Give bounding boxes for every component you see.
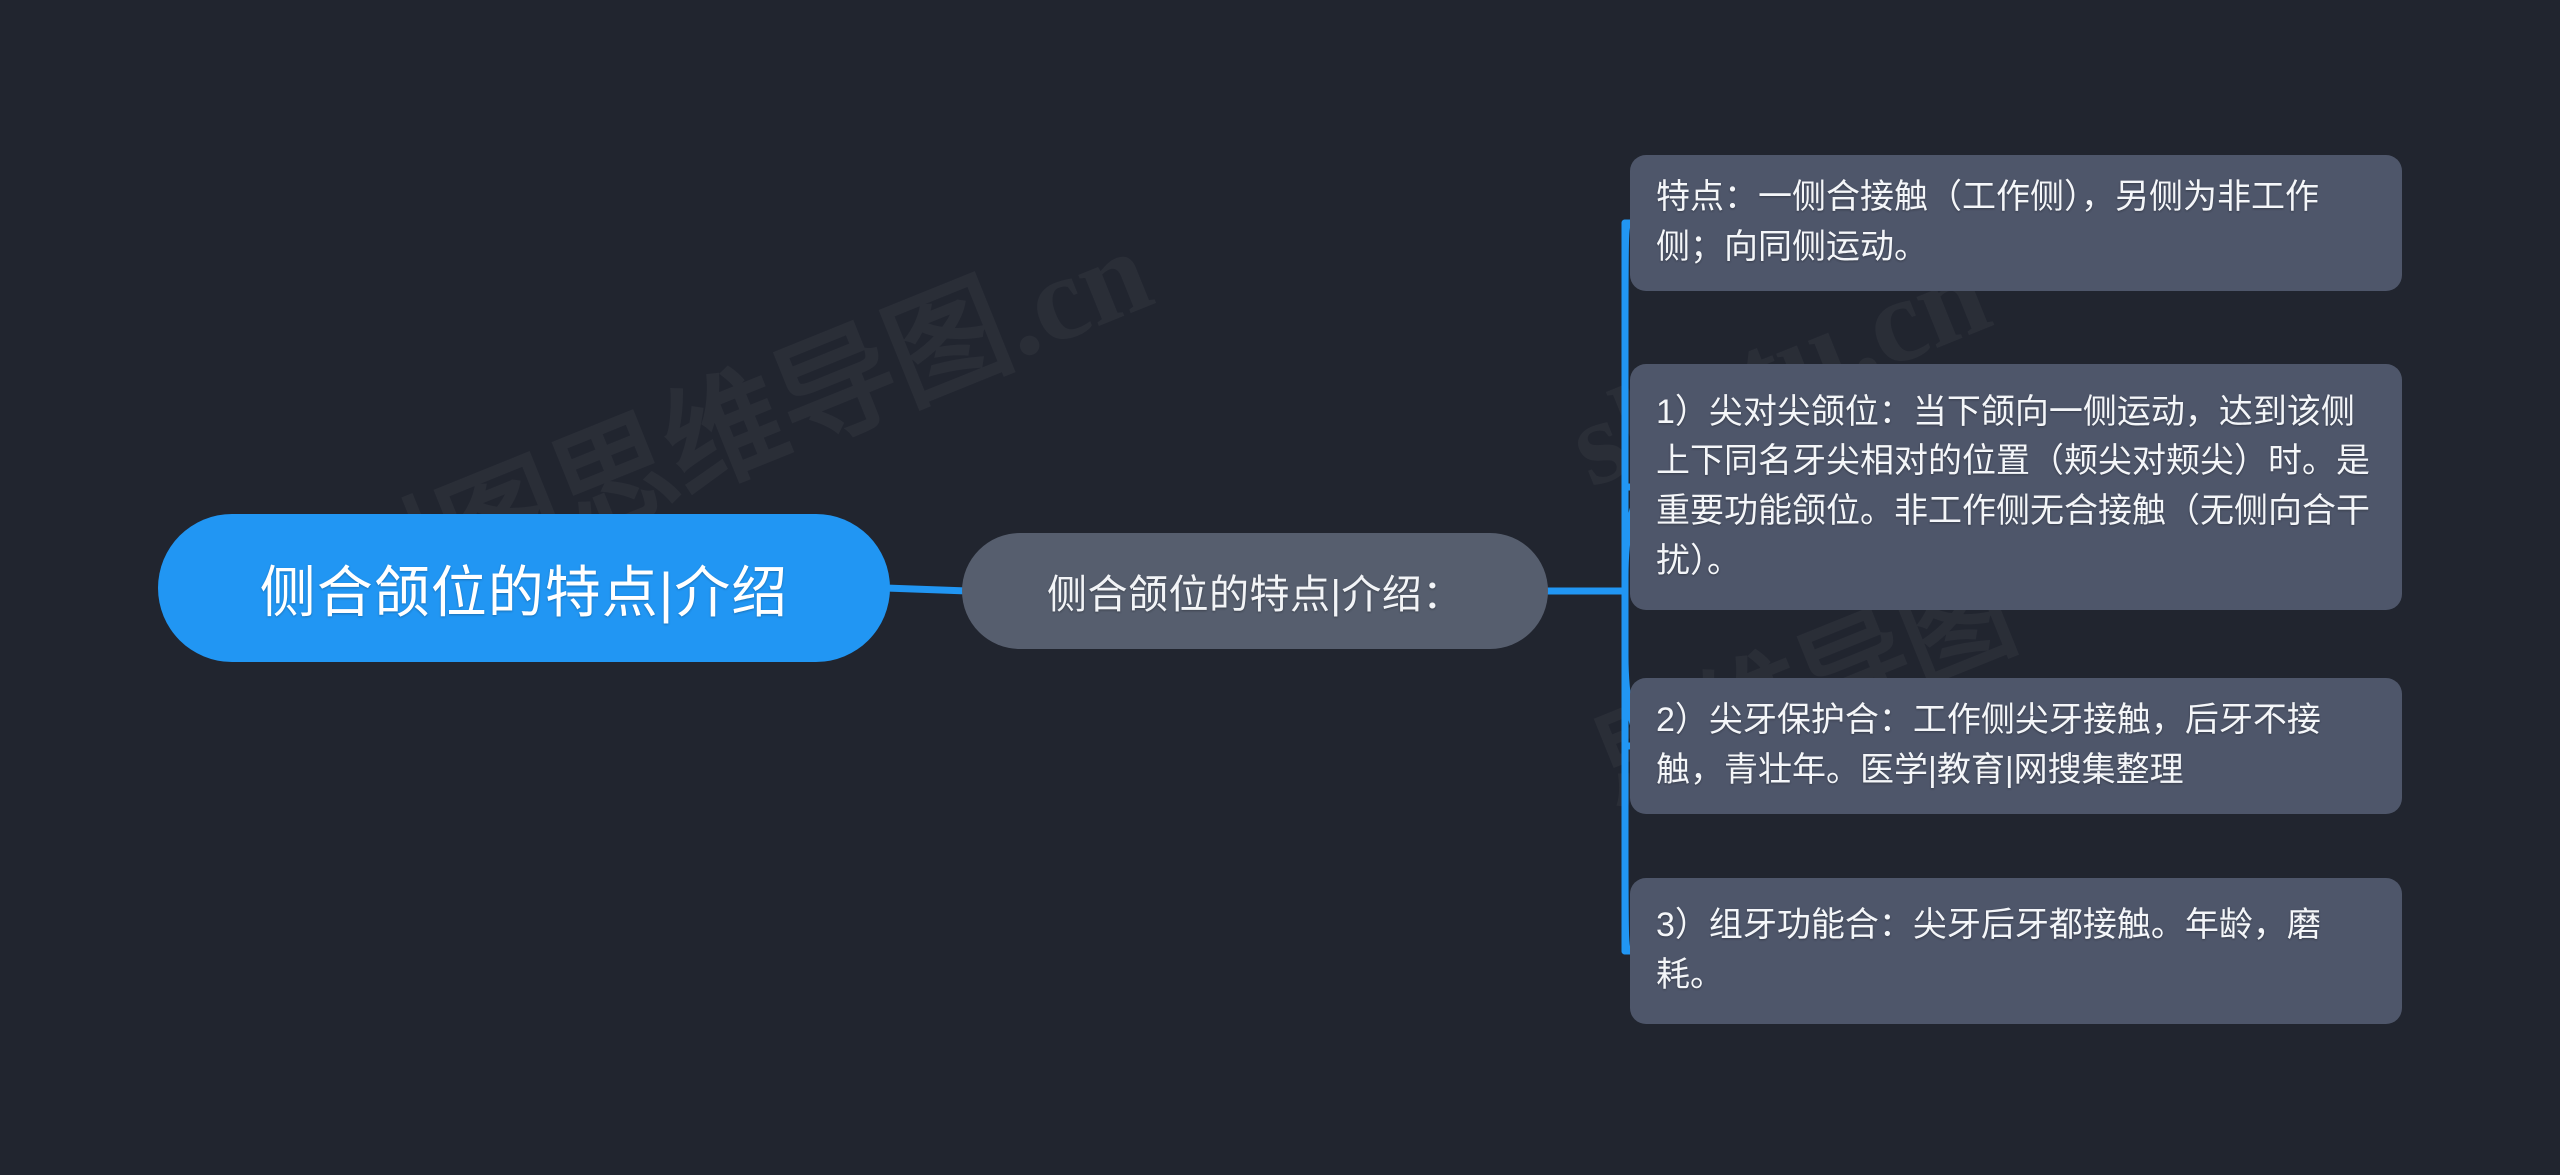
root-node-label: 侧合颌位的特点|介绍 bbox=[260, 548, 789, 629]
branch-node-label: 侧合颌位的特点|介绍： bbox=[1047, 562, 1463, 620]
branch-node[interactable]: 侧合颌位的特点|介绍： bbox=[962, 533, 1548, 649]
mindmap-canvas: 树图思维导图.cn shutu.cn 思维导图 侧合颌位的特点|介绍 侧合颌位的… bbox=[0, 0, 2560, 1175]
leaf-card[interactable]: 2）尖牙保护合：工作侧尖牙接触，后牙不接触，青壮年。医学|教育|网搜集整理 bbox=[1630, 678, 2402, 814]
leaf-card-text: 2）尖牙保护合：工作侧尖牙接触，后牙不接触，青壮年。医学|教育|网搜集整理 bbox=[1656, 696, 2376, 795]
link-root-to-branch bbox=[886, 588, 968, 591]
leaf-card[interactable]: 特点：一侧合接触（工作侧），另侧为非工作侧；向同侧运动。 bbox=[1630, 155, 2402, 291]
leaf-card-text: 1）尖对尖颌位：当下颌向一侧运动，达到该侧上下同名牙尖相对的位置（颊尖对颊尖）时… bbox=[1656, 388, 2376, 587]
root-node[interactable]: 侧合颌位的特点|介绍 bbox=[158, 514, 890, 662]
leaf-card[interactable]: 3）组牙功能合：尖牙后牙都接触。年龄，磨耗。 bbox=[1630, 878, 2402, 1024]
leaf-card-text: 特点：一侧合接触（工作侧），另侧为非工作侧；向同侧运动。 bbox=[1656, 173, 2376, 272]
leaf-card[interactable]: 1）尖对尖颌位：当下颌向一侧运动，达到该侧上下同名牙尖相对的位置（颊尖对颊尖）时… bbox=[1630, 364, 2402, 610]
leaf-card-text: 3）组牙功能合：尖牙后牙都接触。年龄，磨耗。 bbox=[1656, 901, 2376, 1000]
